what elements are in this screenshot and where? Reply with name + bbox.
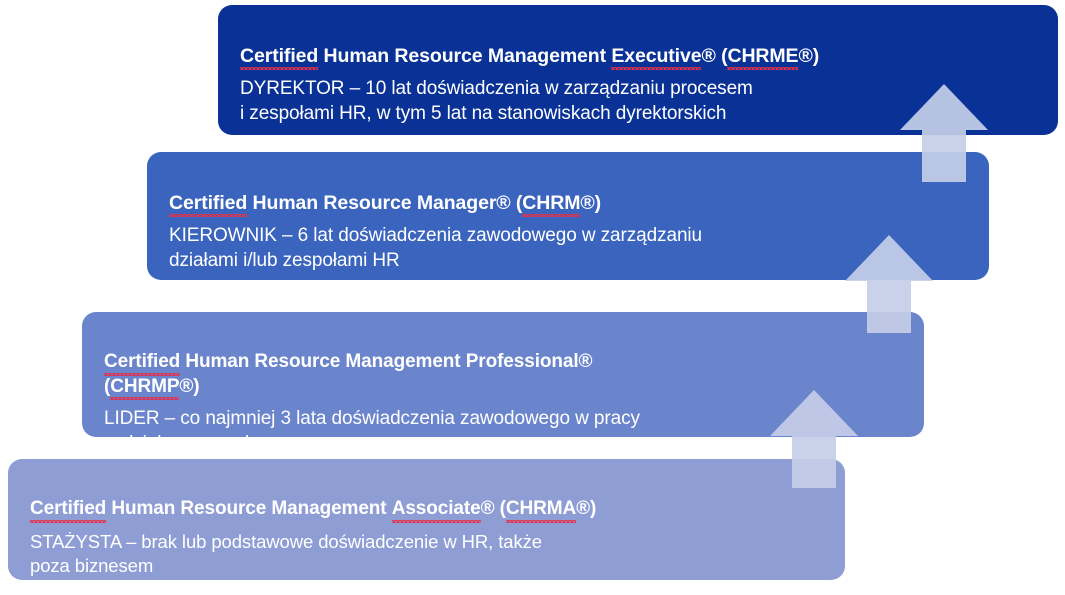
level-title-associate-rest: Human Resource Management Associate® (CH…: [106, 498, 596, 519]
spellcheck-flagged-word: Certified: [104, 350, 180, 374]
arrow-professional-to-manager-icon: [843, 233, 935, 333]
diagram-canvas: Certified Human Resource Management Asso…: [0, 0, 1065, 595]
level-title-associate: Certified Human Resource Management Asso…: [30, 473, 823, 522]
spellcheck-flagged-word: Certified: [169, 191, 247, 216]
level-box-associate[interactable]: Certified Human Resource Management Asso…: [8, 459, 845, 580]
arrow-associate-to-professional-icon: [768, 388, 860, 488]
spellcheck-flagged-word: Certified: [30, 497, 106, 521]
level-title-manager: Certified Human Resource Manager® (CHRM®…: [169, 166, 967, 216]
arrow-manager-to-executive-icon: [898, 82, 990, 182]
spellcheck-flagged-word: Certified: [240, 44, 318, 69]
level-title-executive: Certified Human Resource Management Exec…: [240, 19, 1036, 69]
level-desc-associate: STAŻYSTA – brak lub podstawowe doświadcz…: [30, 530, 823, 578]
